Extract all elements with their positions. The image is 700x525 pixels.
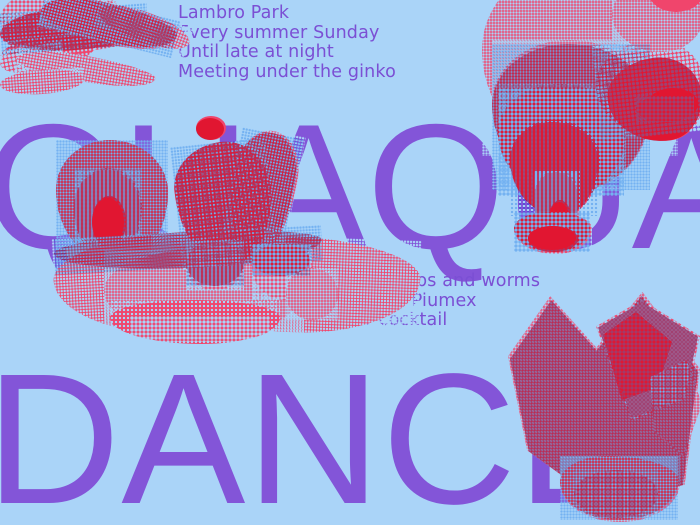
- info-block-middle: Free crumbs and worms Dj set by Piumex R…: [327, 272, 540, 331]
- poster-canvas: Lambro Park Every summer Sunday Until la…: [0, 0, 700, 525]
- info-block-top: Lambro Park Every summer Sunday Until la…: [178, 4, 396, 82]
- headline-quaqua: QUAQUA: [0, 98, 700, 276]
- headline-dance: DANCE: [0, 347, 642, 525]
